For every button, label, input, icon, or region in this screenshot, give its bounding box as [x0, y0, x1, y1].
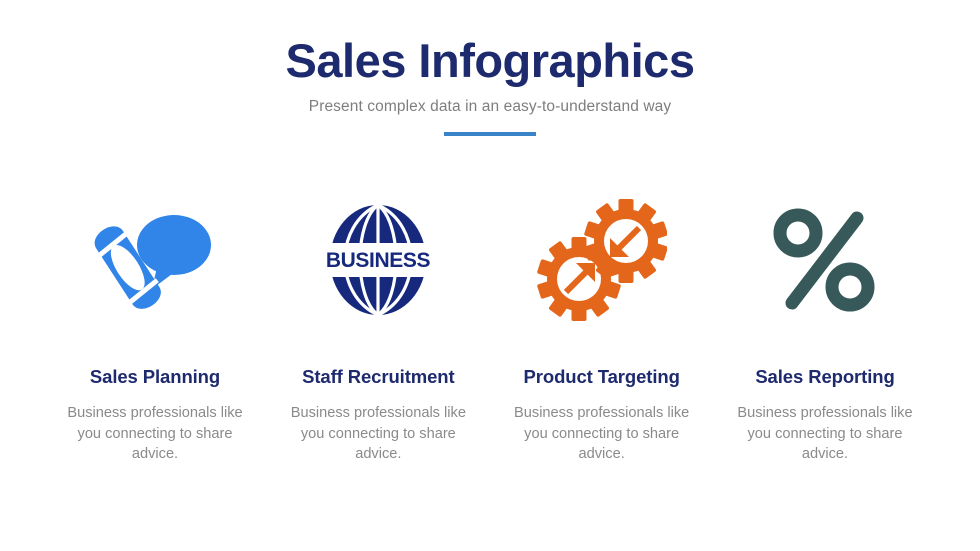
column-body-text: Business professionals like you connecti…	[509, 403, 694, 465]
column-title: Product Targeting	[524, 366, 680, 388]
globe-label: BUSINESS	[326, 249, 431, 272]
column-product-targeting[interactable]: Product Targeting Business professionals…	[497, 196, 707, 465]
title-accent-rule	[444, 132, 536, 136]
phone-speech-bubble-icon	[90, 201, 220, 319]
icon-container	[532, 196, 672, 324]
column-sales-reporting[interactable]: Sales Reporting Business professionals l…	[720, 196, 930, 465]
column-sales-planning[interactable]: Sales Planning Business professionals li…	[50, 196, 260, 465]
column-body-text: Business professionals like you connecti…	[286, 403, 471, 465]
business-globe-icon: BUSINESS	[318, 201, 438, 319]
infographic-columns: Sales Planning Business professionals li…	[50, 196, 930, 465]
page-title: Sales Infographics	[0, 36, 980, 87]
column-title: Staff Recruitment	[302, 366, 455, 388]
column-staff-recruitment[interactable]: BUSINESS Staff Recruitment Business prof…	[273, 196, 483, 465]
icon-container	[755, 196, 895, 324]
column-body-text: Business professionals like you connecti…	[732, 403, 917, 465]
column-body-text: Business professionals like you connecti…	[63, 403, 248, 465]
gears-arrows-icon	[537, 199, 667, 321]
icon-container	[85, 196, 225, 324]
icon-container: BUSINESS	[308, 196, 448, 324]
column-title: Sales Planning	[90, 366, 220, 388]
column-title: Sales Reporting	[755, 366, 894, 388]
slide-header: Sales Infographics Present complex data …	[0, 36, 980, 136]
infographic-slide: Sales Infographics Present complex data …	[0, 0, 980, 551]
percent-icon	[770, 204, 880, 316]
page-subtitle: Present complex data in an easy-to-under…	[0, 98, 980, 116]
